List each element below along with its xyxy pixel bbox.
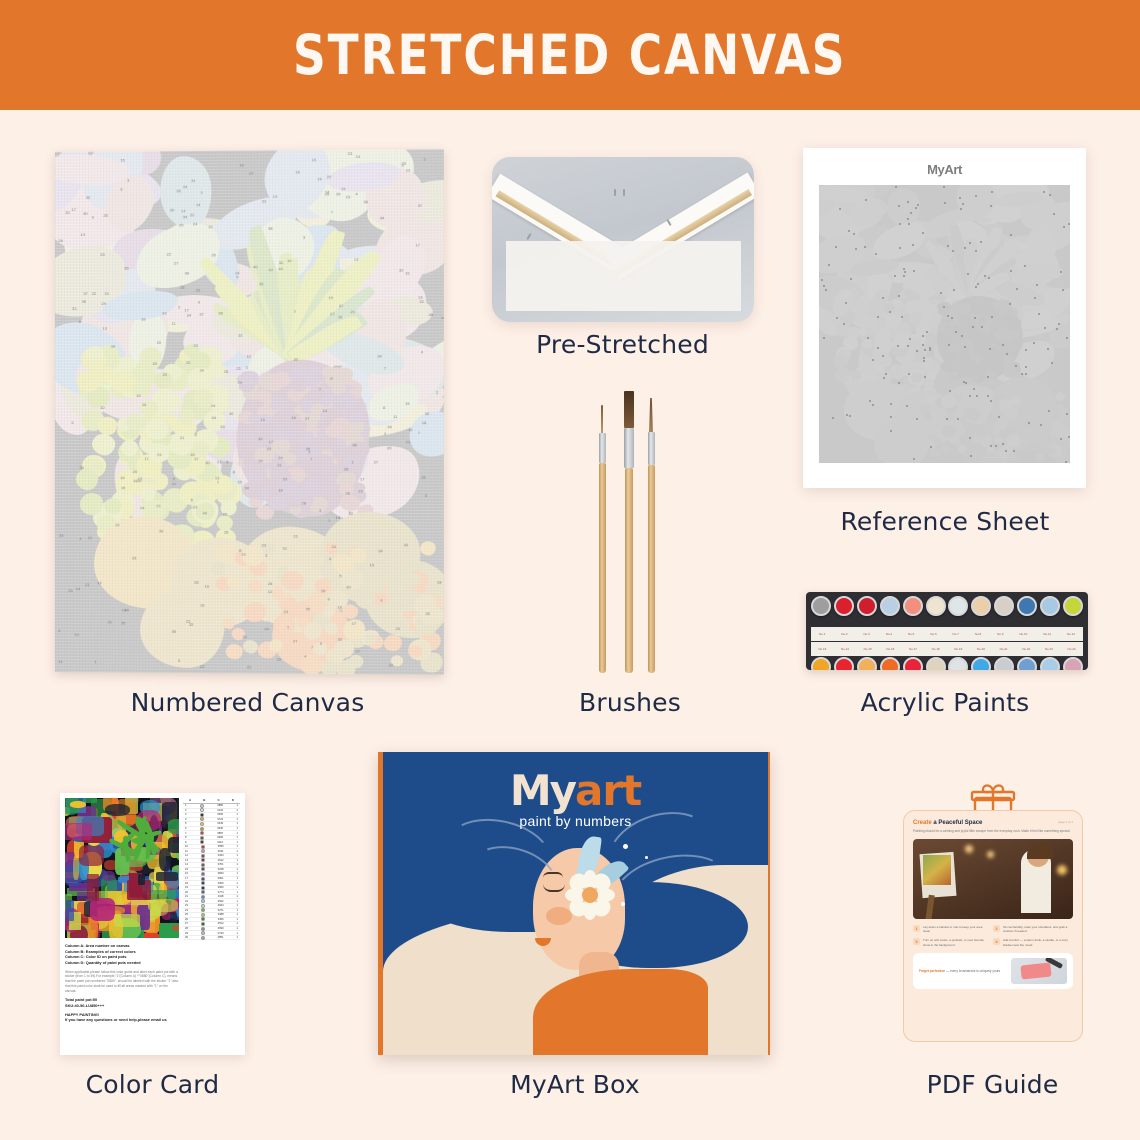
cell-color-id: 0851: [218, 936, 224, 939]
cell-color-id: 0555: [218, 845, 224, 848]
paint-pot: [948, 657, 968, 670]
cell-color-id: 0512: [218, 922, 224, 925]
cell-area-number: 23: [185, 904, 188, 907]
paint-pot-label: No.18: [932, 647, 940, 651]
cell-quantity: 1: [237, 877, 238, 880]
cell-quantity: 1: [237, 827, 238, 830]
cell-color-id: 0901: [218, 877, 224, 880]
paint-tray: No.1No.2No.3No.4No.5No.6No.7No.8No.9No.1…: [806, 592, 1088, 670]
pdf-title-accent: Create: [913, 820, 932, 826]
paint-pot: [1017, 657, 1037, 670]
cell-quantity: 1: [237, 832, 238, 835]
product-pdf-guide: page 1 of 1 Create a Peaceful Space Pain…: [903, 782, 1083, 1054]
pre-stretched-photo: [492, 157, 754, 322]
cell-area-number: 13: [185, 859, 188, 862]
cell-area-number: 29: [185, 932, 188, 935]
cell-color-id: 0934: [218, 904, 224, 907]
cell-quantity: 1: [237, 891, 238, 894]
cell-area-number: 7: [185, 832, 186, 835]
th-c: C: [218, 798, 220, 802]
product-reference-sheet: MyArt: [803, 148, 1086, 488]
cell-quantity: 2: [237, 809, 238, 812]
cell-color-swatch: [201, 917, 205, 921]
cell-area-number: 24: [185, 909, 188, 912]
cell-area-number: 8: [185, 836, 186, 839]
pdf-page-marker: page 1 of 1: [1058, 820, 1073, 824]
cell-color-id: 0990: [217, 836, 223, 839]
cell-color-id: 0880: [217, 804, 223, 807]
cell-area-number: 20: [185, 891, 188, 894]
table-row: 3008511: [183, 936, 240, 941]
cell-color-swatch: [201, 931, 205, 935]
paint-pot-label: No.14: [841, 647, 849, 651]
cell-color-id: 0341: [218, 850, 224, 853]
cell-color-id: 0456: [218, 918, 224, 921]
cell-quantity: 1: [237, 886, 238, 889]
cell-area-number: 26: [185, 918, 188, 921]
paint-pot-label: No.1: [819, 632, 825, 636]
paint-pot-label: No.3: [863, 632, 869, 636]
pdf-guide-callout: Forget perfection — every brushstroke is…: [913, 953, 1073, 989]
cell-color-swatch: [201, 890, 205, 894]
paint-pot-label: No.2: [841, 632, 847, 636]
paint-pot-label: No.13: [818, 647, 826, 651]
caption-reference-sheet: Reference Sheet: [800, 507, 1090, 536]
product-numbered-canvas: 3242515202823171493031243221193715212318…: [55, 152, 440, 672]
brush-round: [646, 398, 657, 673]
paint-pot: [1063, 657, 1083, 670]
cell-quantity: 1: [237, 813, 238, 816]
caption-color-card: Color Card: [40, 1070, 265, 1099]
logo-text-my: My: [510, 766, 575, 815]
cell-color-swatch: [200, 804, 204, 808]
cell-color-swatch: [201, 877, 205, 881]
cell-area-number: 21: [185, 895, 188, 898]
paint-pot: [857, 657, 877, 670]
paint-pot-label: No.5: [908, 632, 914, 636]
cell-area-number: 27: [185, 922, 188, 925]
sku-code: SKU:40-50-LU850+++: [65, 1003, 179, 1009]
paint-pot: [971, 596, 991, 616]
paint-pot-label: No.4: [886, 632, 892, 636]
cell-color-id: 0630: [217, 827, 223, 830]
paint-pot: [903, 657, 923, 670]
cell-quantity: 1: [237, 845, 238, 848]
cell-color-swatch: [201, 854, 205, 858]
paint-pot-label: No.17: [909, 647, 917, 651]
cell-area-number: 19: [185, 886, 188, 889]
cell-quantity: 1: [237, 922, 238, 925]
paint-pot-label: No.21: [1000, 647, 1008, 651]
cell-color-swatch: [201, 904, 205, 908]
caption-numbered-canvas: Numbered Canvas: [55, 688, 440, 717]
cell-quantity: 1: [237, 918, 238, 921]
myart-box-face: Myart paint by numbers: [378, 752, 770, 1055]
cell-color-id: 0305: [218, 882, 224, 885]
paint-pot: [834, 596, 854, 616]
paint-pot: [948, 596, 968, 616]
canvas-face: 3242515202823171493031243221193715212318…: [55, 149, 444, 675]
color-card-legend: Column A: Area number on canvas Column B…: [65, 943, 179, 1023]
cell-color-swatch: [201, 867, 205, 871]
tip-number: 2: [993, 925, 1000, 932]
cell-color-id: 0820: [218, 872, 224, 875]
cell-area-number: 28: [185, 927, 188, 930]
myart-logo: Myart paint by numbers: [383, 766, 768, 829]
cell-color-id: 0774: [218, 891, 224, 894]
myart-tagline: paint by numbers: [383, 813, 768, 829]
cell-color-id: 0612: [218, 859, 224, 862]
cell-quantity: 1: [237, 822, 238, 825]
page-title: STRETCHED CANVAS: [293, 23, 846, 87]
product-pre-stretched: [492, 157, 754, 322]
reference-sheet-artwork: [819, 185, 1070, 463]
reference-sheet-paper: MyArt: [803, 148, 1086, 488]
callout-thumbnail: [1011, 958, 1067, 984]
cell-color-swatch: [201, 845, 205, 849]
cell-area-number: 10: [185, 845, 188, 848]
cell-quantity: 1: [237, 859, 238, 862]
caption-pdf-guide: PDF Guide: [880, 1070, 1105, 1099]
paint-pot-label: No.10: [1019, 632, 1027, 636]
cell-color-swatch: [200, 817, 204, 821]
paint-pot-label: No.16: [886, 647, 894, 651]
cell-quantity: 1: [237, 872, 238, 875]
color-card-table: A B C D 10880120132230450140722150435160…: [183, 798, 240, 940]
product-color-card: Column A: Area number on canvas Column B…: [60, 793, 245, 1055]
paint-pot: [926, 596, 946, 616]
paint-pot-label: No.8: [975, 632, 981, 636]
cell-quantity: 1: [237, 904, 238, 907]
cell-color-swatch: [201, 872, 205, 876]
cell-color-id: 0132: [217, 809, 223, 812]
paint-pot: [811, 657, 831, 670]
cell-color-swatch: [201, 849, 205, 853]
cell-color-id: 0118: [218, 895, 224, 898]
callout-accent: Forget perfection: [919, 969, 945, 973]
tip-number: 3: [913, 938, 920, 945]
paint-pot-labels-bottom: No.13No.14No.15No.16No.17No.18No.19No.20…: [811, 642, 1083, 656]
cell-quantity: 1: [237, 868, 238, 871]
cell-area-number: 18: [185, 882, 188, 885]
tip-text: Add comfort — a warm drink, a candle, or…: [1003, 938, 1069, 947]
cell-color-swatch: [200, 840, 204, 844]
logo-text-art: art: [575, 766, 641, 815]
cell-color-id: 0660: [218, 886, 224, 889]
cell-color-id: 0740: [218, 932, 224, 935]
list-item: 2Sit comfortably, relax your shoulders, …: [993, 925, 1073, 934]
list-item: 3Turn on soft music, a podcast, or your …: [913, 938, 993, 947]
pdf-title-rest: a Peaceful Space: [932, 820, 983, 826]
cell-area-number: 22: [185, 900, 188, 903]
paint-pot: [857, 596, 877, 616]
paint-pot-label: No.12: [1067, 632, 1075, 636]
cell-color-id: 0110: [217, 841, 223, 844]
product-myart-box: Myart paint by numbers: [378, 752, 770, 1055]
cell-color-id: 0722: [217, 818, 223, 821]
brush-liner: [598, 405, 607, 673]
cell-color-swatch: [201, 908, 205, 912]
cell-color-swatch: [201, 922, 205, 926]
caption-acrylic-paints: Acrylic Paints: [800, 688, 1090, 717]
paint-pot: [1040, 596, 1060, 616]
cell-quantity: 1: [237, 804, 238, 807]
cell-quantity: 1: [237, 836, 238, 839]
paint-pot: [903, 596, 923, 616]
brush-flat: [622, 391, 636, 673]
cell-color-swatch: [200, 813, 204, 817]
cell-quantity: 1: [237, 854, 238, 857]
pdf-guide-photo: [913, 839, 1073, 919]
cell-color-swatch: [200, 827, 204, 831]
paint-pot-row-top: [809, 596, 1085, 626]
cell-color-id: 0238: [218, 868, 224, 871]
cell-area-number: 5: [185, 822, 186, 825]
cell-area-number: 4: [185, 818, 186, 821]
cell-area-number: 3: [185, 813, 186, 816]
canvas-texture: [55, 149, 444, 675]
cell-area-number: 2: [185, 809, 186, 812]
tip-text: Lay down a blanket or mat to keep your a…: [923, 925, 989, 934]
cell-area-number: 14: [185, 863, 188, 866]
paint-pot-row-bottom: [809, 657, 1085, 670]
cell-color-id: 0450: [217, 813, 223, 816]
cell-area-number: 30: [185, 936, 188, 939]
cell-quantity: 1: [237, 895, 238, 898]
cell-color-id: 0435: [217, 822, 223, 825]
cell-quantity: 1: [237, 863, 238, 866]
cell-color-swatch: [201, 863, 205, 867]
cell-quantity: 1: [237, 932, 238, 935]
reference-sheet-logo: MyArt: [819, 162, 1070, 177]
cell-quantity: 1: [237, 913, 238, 916]
cell-quantity: 1: [237, 909, 238, 912]
color-card-note: When applicable,please follow this color…: [65, 970, 179, 994]
cell-color-id: 0887: [217, 832, 223, 835]
cell-color-swatch: [200, 808, 204, 812]
paint-pot-labels-top: No.1No.2No.3No.4No.5No.6No.7No.8No.9No.1…: [811, 627, 1083, 641]
cell-quantity: 1: [237, 927, 238, 930]
help-line: If you have any questions or need help,p…: [65, 1017, 179, 1023]
cell-color-swatch: [201, 886, 205, 890]
paint-pot: [834, 657, 854, 670]
color-card-paper: Column A: Area number on canvas Column B…: [60, 793, 245, 1055]
cell-color-id: 0701: [218, 863, 224, 866]
cell-area-number: 6: [185, 827, 186, 830]
paint-pot: [811, 596, 831, 616]
cell-color-id: 0388: [218, 913, 224, 916]
cell-color-id: 0271: [218, 909, 224, 912]
paint-pot: [1017, 596, 1037, 616]
cell-color-swatch: [201, 913, 205, 917]
paint-pot: [880, 596, 900, 616]
page-header: STRETCHED CANVAS: [0, 0, 1140, 110]
cell-quantity: 1: [237, 900, 238, 903]
cell-area-number: 16: [185, 872, 188, 875]
tip-number: 4: [993, 938, 1000, 945]
paint-pot-label: No.9: [997, 632, 1003, 636]
cell-quantity: 1: [237, 850, 238, 853]
tip-number: 1: [913, 925, 920, 932]
paint-pot: [926, 657, 946, 670]
paint-pot: [1040, 657, 1060, 670]
cell-area-number: 17: [185, 877, 188, 880]
cell-color-swatch: [201, 895, 205, 899]
cell-color-swatch: [201, 881, 205, 885]
cell-color-swatch: [200, 836, 204, 840]
paint-pot-label: No.24: [1068, 647, 1076, 651]
cell-color-swatch: [200, 831, 204, 835]
cell-area-number: 12: [185, 854, 188, 857]
tip-text: Turn on soft music, a podcast, or your f…: [923, 938, 989, 947]
pdf-guide-tips: 1Lay down a blanket or mat to keep your …: [913, 925, 1073, 952]
cell-color-swatch: [201, 936, 205, 940]
cell-color-swatch: [201, 927, 205, 931]
paint-pot: [1063, 596, 1083, 616]
product-acrylic-paints: No.1No.2No.3No.4No.5No.6No.7No.8No.9No.1…: [806, 592, 1088, 670]
cell-color-id: 0522: [218, 900, 224, 903]
cell-area-number: 1: [185, 804, 186, 807]
paint-pot: [880, 657, 900, 670]
cell-color-swatch: [201, 899, 205, 903]
tip-text: Sit comfortably, relax your shoulders, a…: [1003, 925, 1069, 934]
paint-pot: [971, 657, 991, 670]
cell-area-number: 25: [185, 913, 188, 916]
pdf-guide-title: Create a Peaceful Space: [913, 820, 1073, 826]
pdf-guide-intro: Painting should be a calming and joyful …: [913, 829, 1073, 834]
paint-pot-label: No.22: [1022, 647, 1030, 651]
th-b: B: [203, 798, 205, 802]
cell-quantity: 1: [237, 841, 238, 844]
paint-pot-label: No.23: [1045, 647, 1053, 651]
paint-pot-label: No.6: [930, 632, 936, 636]
th-d: D: [232, 798, 234, 802]
th-a: A: [189, 798, 191, 802]
cell-area-number: 11: [185, 850, 188, 853]
cell-color-swatch: [201, 858, 205, 862]
cell-quantity: 1: [237, 936, 238, 939]
cell-area-number: 15: [185, 868, 188, 871]
cell-quantity: 1: [237, 882, 238, 885]
cell-area-number: 9: [185, 841, 186, 844]
product-brushes: [580, 388, 680, 673]
paint-pot-label: No.20: [977, 647, 985, 651]
pdf-guide-page: page 1 of 1 Create a Peaceful Space Pain…: [903, 810, 1083, 1042]
caption-brushes: Brushes: [500, 688, 760, 717]
cell-color-swatch: [200, 822, 204, 826]
cell-quantity: 1: [237, 818, 238, 821]
caption-pre-stretched: Pre-Stretched: [480, 330, 765, 359]
paint-pot-label: No.11: [1043, 632, 1051, 636]
cell-color-id: 0443: [218, 854, 224, 857]
paint-pot-label: No.15: [864, 647, 872, 651]
paint-pot-label: No.19: [954, 647, 962, 651]
color-card-artwork: [65, 798, 179, 938]
paint-pot: [994, 657, 1014, 670]
legend-column-d: Column D: Quantity of paint pots needed: [65, 960, 179, 966]
caption-myart-box: MyArt Box: [430, 1070, 720, 1099]
callout-rest: — every brushstroke is uniquely yours: [945, 969, 1000, 973]
list-item: 1Lay down a blanket or mat to keep your …: [913, 925, 993, 934]
paint-pot: [994, 596, 1014, 616]
cell-color-id: 0699: [218, 927, 224, 930]
paint-pot-label: No.7: [953, 632, 959, 636]
list-item: 4Add comfort — a warm drink, a candle, o…: [993, 938, 1073, 947]
